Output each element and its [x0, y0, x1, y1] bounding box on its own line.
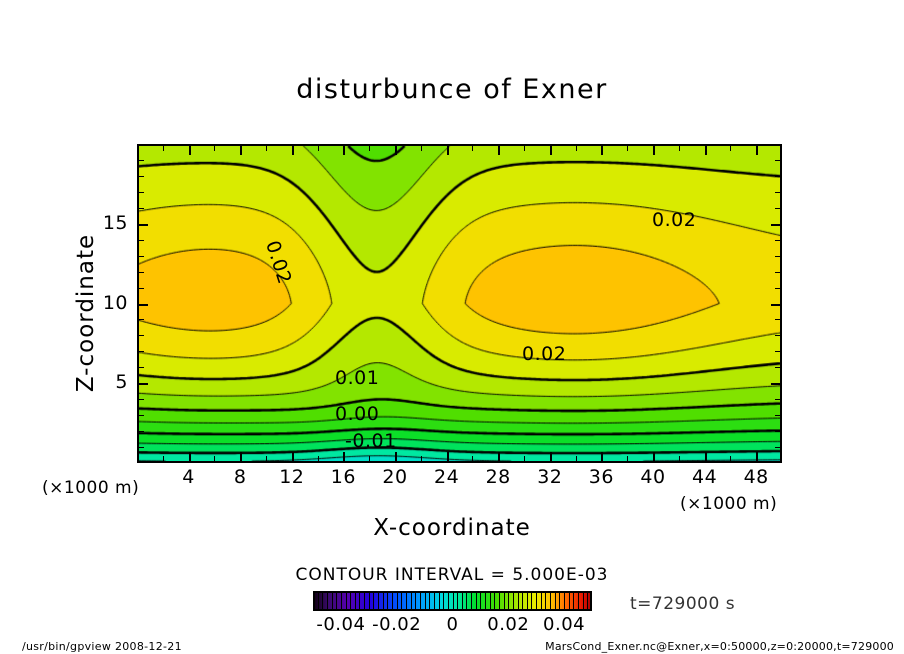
y-axis-title: Z-coordinate [73, 203, 99, 423]
y-tick-right-4 [775, 399, 780, 400]
colorbar-subseparator [587, 593, 588, 609]
x-tick-top-6 [214, 146, 215, 151]
x-tick-top-42 [679, 146, 680, 151]
colorbar-subseparator [471, 593, 472, 609]
x-tick-bottom-44 [705, 452, 707, 461]
x-tick-bottom-26 [472, 456, 473, 461]
x-tick-label-4: 4 [167, 466, 211, 488]
x-tick-label-24: 24 [425, 466, 469, 488]
colorbar-tick-label-2: 0 [423, 614, 483, 635]
colorbar-subseparator [462, 593, 463, 609]
x-tick-top-46 [730, 146, 731, 151]
y-tick-left-2 [139, 431, 144, 432]
colorbar-subseparator [531, 593, 532, 609]
x-tick-label-44: 44 [683, 466, 727, 488]
y-tick-right-7 [775, 351, 780, 352]
colorbar-subseparator [359, 593, 360, 609]
x-tick-top-48 [756, 146, 758, 155]
colorbar-subseparator [392, 593, 393, 609]
colorbar-separator [522, 593, 523, 609]
colorbar-subseparator [527, 593, 528, 609]
colorbar-tick-label-0: -0.04 [311, 614, 371, 635]
colorbar-separator [508, 593, 509, 609]
contour-label-0.01: 0.01 [335, 367, 379, 389]
y-tick-left-1 [139, 447, 144, 448]
y-tick-right-10 [771, 304, 780, 306]
colorbar-subseparator [415, 593, 416, 609]
colorbar-subseparator [499, 593, 500, 609]
colorbar-separator [369, 593, 370, 609]
colorbar-subseparator [332, 593, 333, 609]
colorbar-separators [313, 591, 592, 611]
colorbar-subseparator [420, 593, 421, 609]
x-tick-label-8: 8 [218, 466, 262, 488]
colorbar-separator [564, 593, 565, 609]
y-tick-left-11 [139, 288, 144, 289]
y-tick-left-14 [139, 240, 144, 241]
colorbar-separator [453, 593, 454, 609]
x-axis-title: X-coordinate [0, 515, 904, 541]
colorbar-separator [578, 593, 579, 609]
colorbar-separator [439, 593, 440, 609]
x-tick-top-20 [395, 146, 397, 155]
x-tick-bottom-42 [679, 456, 680, 461]
colorbar-separator [341, 593, 342, 609]
colorbar-subseparator [406, 593, 407, 609]
colorbar-separator [383, 593, 384, 609]
colorbar-subseparator [448, 593, 449, 609]
colorbar-subseparator [513, 593, 514, 609]
colorbar-subseparator [350, 593, 351, 609]
colorbar-subseparator [346, 593, 347, 609]
colorbar-subseparator [434, 593, 435, 609]
y-tick-right-16 [775, 208, 780, 209]
x-tick-top-24 [447, 146, 449, 155]
colorbar-subseparator [373, 593, 374, 609]
colorbar-subseparator [541, 593, 542, 609]
y-tick-right-14 [775, 240, 780, 241]
colorbar-separator [355, 593, 356, 609]
x-tick-bottom-18 [369, 456, 370, 461]
x-axis-units-label: (×1000 m) [680, 494, 777, 514]
x-tick-top-36 [601, 146, 603, 155]
x-tick-label-16: 16 [321, 466, 365, 488]
x-tick-top-10 [266, 146, 267, 151]
colorbar-subseparator [490, 593, 491, 609]
colorbar-subseparator [583, 593, 584, 609]
y-tick-left-10 [139, 304, 148, 306]
x-tick-bottom-46 [730, 456, 731, 461]
x-tick-bottom-32 [550, 452, 552, 461]
y-tick-right-9 [775, 319, 780, 320]
y-axis-units-label: (×1000 m) [42, 478, 139, 498]
x-tick-bottom-48 [756, 452, 758, 461]
y-tick-left-18 [139, 176, 144, 177]
colorbar-separator [536, 593, 537, 609]
y-tick-right-5 [771, 383, 780, 385]
y-tick-left-15 [139, 224, 148, 226]
colorbar-subseparator [485, 593, 486, 609]
y-tick-right-11 [775, 288, 780, 289]
colorbar-subseparator [322, 593, 323, 609]
contour-label-0.02-center: 0.02 [522, 343, 566, 365]
y-tick-right-18 [775, 176, 780, 177]
x-tick-top-8 [240, 146, 242, 155]
x-tick-bottom-34 [576, 456, 577, 461]
x-tick-bottom-28 [498, 452, 500, 461]
colorbar-subseparator [569, 593, 570, 609]
x-tick-top-44 [705, 146, 707, 155]
colorbar-subseparator [555, 593, 556, 609]
colorbar-subseparator [559, 593, 560, 609]
colorbar-subseparator [545, 593, 546, 609]
x-tick-top-28 [498, 146, 500, 155]
x-tick-label-36: 36 [579, 466, 623, 488]
contour-plot-canvas [139, 146, 780, 461]
contour-label-0.02-right: 0.02 [652, 209, 696, 231]
x-tick-label-48: 48 [734, 466, 778, 488]
y-tick-right-1 [775, 447, 780, 448]
y-tick-left-3 [139, 415, 144, 416]
colorbar-separator [397, 593, 398, 609]
x-tick-top-16 [343, 146, 345, 155]
colorbar-tick-label-4: 0.04 [534, 614, 594, 635]
colorbar-separator [411, 593, 412, 609]
x-tick-top-2 [163, 146, 164, 151]
colorbar-subseparator [504, 593, 505, 609]
colorbar-subseparator [443, 593, 444, 609]
colorbar-separator [466, 593, 467, 609]
colorbar-separator [550, 593, 551, 609]
y-tick-right-15 [771, 224, 780, 226]
x-tick-bottom-22 [421, 456, 422, 461]
contour-label-0.00: 0.00 [335, 403, 379, 425]
y-tick-right-2 [775, 431, 780, 432]
x-tick-bottom-10 [266, 456, 267, 461]
contour-interval-caption: CONTOUR INTERVAL = 5.000E-03 [0, 565, 904, 585]
x-tick-bottom-36 [601, 452, 603, 461]
x-tick-bottom-16 [343, 452, 345, 461]
x-tick-bottom-38 [627, 456, 628, 461]
x-tick-top-22 [421, 146, 422, 151]
y-tick-right-8 [775, 335, 780, 336]
x-tick-top-40 [653, 146, 655, 155]
colorbar-subseparator [364, 593, 365, 609]
y-tick-right-6 [775, 367, 780, 368]
page-title: disturbunce of Exner [0, 74, 904, 105]
x-tick-label-28: 28 [476, 466, 520, 488]
x-tick-top-18 [369, 146, 370, 151]
time-annotation: t=729000 s [630, 594, 735, 614]
y-tick-right-12 [775, 272, 780, 273]
x-tick-bottom-14 [318, 456, 319, 461]
y-tick-left-7 [139, 351, 144, 352]
x-tick-bottom-6 [214, 456, 215, 461]
y-tick-left-9 [139, 319, 144, 320]
colorbar-tick-label-3: 0.02 [478, 614, 538, 635]
footer-command-info: /usr/bin/gpview 2008-12-21 [22, 640, 182, 653]
x-tick-bottom-20 [395, 452, 397, 461]
y-tick-right-3 [775, 415, 780, 416]
x-tick-label-12: 12 [270, 466, 314, 488]
colorbar-subseparator [387, 593, 388, 609]
y-tick-left-16 [139, 208, 144, 209]
colorbar-subseparator [457, 593, 458, 609]
y-tick-left-12 [139, 272, 144, 273]
contour-label-neg-0.01: -0.01 [345, 430, 397, 452]
x-tick-label-40: 40 [631, 466, 675, 488]
x-tick-bottom-40 [653, 452, 655, 461]
y-tick-left-19 [139, 160, 144, 161]
x-tick-top-32 [550, 146, 552, 155]
colorbar-subseparator [429, 593, 430, 609]
x-tick-top-14 [318, 146, 319, 151]
y-tick-left-17 [139, 192, 144, 193]
colorbar-subseparator [518, 593, 519, 609]
y-tick-left-8 [139, 335, 144, 336]
x-tick-top-34 [576, 146, 577, 151]
y-tick-left-6 [139, 367, 144, 368]
x-tick-top-12 [292, 146, 294, 155]
colorbar-separator [425, 593, 426, 609]
colorbar-subseparator [378, 593, 379, 609]
colorbar-separator [480, 593, 481, 609]
colorbar-subseparator [318, 593, 319, 609]
x-tick-top-38 [627, 146, 628, 151]
y-tick-left-4 [139, 399, 144, 400]
colorbar [313, 591, 592, 611]
x-tick-label-20: 20 [373, 466, 417, 488]
x-tick-bottom-2 [163, 456, 164, 461]
y-tick-right-17 [775, 192, 780, 193]
x-tick-top-26 [472, 146, 473, 151]
x-tick-top-30 [524, 146, 525, 151]
y-tick-left-13 [139, 256, 144, 257]
y-tick-left-5 [139, 383, 148, 385]
x-tick-top-4 [189, 146, 191, 155]
x-tick-bottom-12 [292, 452, 294, 461]
x-tick-label-32: 32 [528, 466, 572, 488]
colorbar-subseparator [573, 593, 574, 609]
plot-frame [137, 144, 782, 463]
footer-dataset-info: MarsCond_Exner.nc@Exner,x=0:50000,z=0:20… [545, 640, 894, 653]
colorbar-subseparator [476, 593, 477, 609]
x-tick-bottom-8 [240, 452, 242, 461]
colorbar-separator [327, 593, 328, 609]
colorbar-tick-label-1: -0.02 [367, 614, 427, 635]
colorbar-separator [494, 593, 495, 609]
y-tick-right-19 [775, 160, 780, 161]
x-tick-bottom-4 [189, 452, 191, 461]
colorbar-subseparator [336, 593, 337, 609]
y-tick-right-13 [775, 256, 780, 257]
colorbar-subseparator [401, 593, 402, 609]
x-tick-bottom-30 [524, 456, 525, 461]
x-tick-bottom-24 [447, 452, 449, 461]
